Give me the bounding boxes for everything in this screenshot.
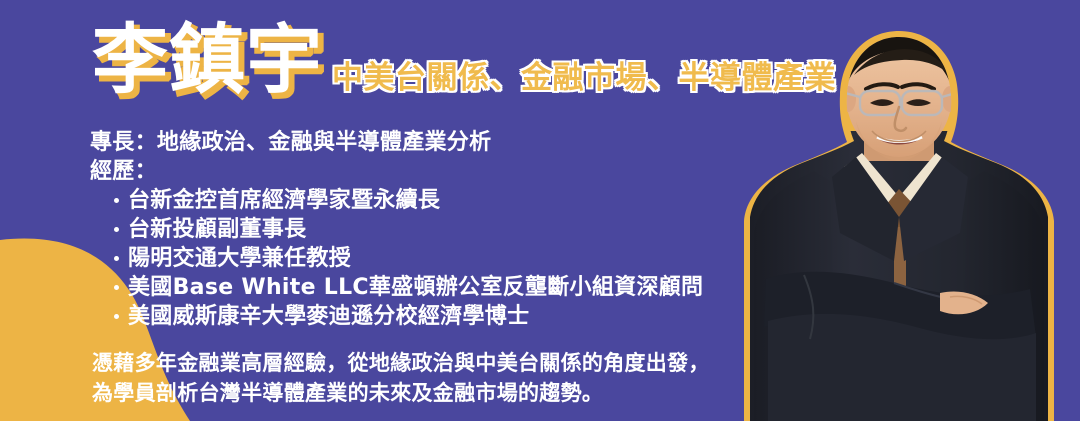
experience-label: 經歷： xyxy=(90,157,730,186)
bullet-dot-icon xyxy=(114,314,119,319)
speaker-profile-banner: 李鎮宇 中美台關係、金融市場、半導體產業 專長：地緣政治、金融與半導體產業分析 … xyxy=(0,0,1080,421)
list-item-label: 陽明交通大學兼任教授 xyxy=(128,246,351,271)
bullet-dot-icon xyxy=(114,285,119,290)
bullet-dot-icon xyxy=(114,227,119,232)
bullet-dot-icon xyxy=(114,256,119,261)
list-item-label: 台新投顧副董事長 xyxy=(128,217,306,242)
list-item: 台新金控首席經濟學家暨永續長 xyxy=(90,186,730,215)
speaker-portrait xyxy=(744,21,1054,421)
bullet-dot-icon xyxy=(114,198,119,203)
list-item-label: 台新金控首席經濟學家暨永續長 xyxy=(128,188,440,213)
list-item: 台新投顧副董事長 xyxy=(90,215,730,244)
summary-paragraph: 憑藉多年金融業高層經驗，從地緣政治與中美台關係的角度出發， 為學員剖析台灣半導體… xyxy=(92,348,752,408)
list-item-label: 美國Base White LLC華盛頓辦公室反壟斷小組資深顧問 xyxy=(128,275,703,300)
page-title: 李鎮宇 xyxy=(92,14,323,106)
summary-line-1: 憑藉多年金融業高層經驗，從地緣政治與中美台關係的角度出發， xyxy=(92,348,752,378)
list-item: 陽明交通大學兼任教授 xyxy=(90,244,730,273)
experience-list: 台新金控首席經濟學家暨永續長 台新投顧副董事長 陽明交通大學兼任教授 美國Bas… xyxy=(90,186,730,331)
specialty-line: 專長：地緣政治、金融與半導體產業分析 xyxy=(90,128,730,157)
list-item: 美國威斯康辛大學麥迪遜分校經濟學博士 xyxy=(90,302,730,331)
summary-line-2: 為學員剖析台灣半導體產業的未來及金融市場的趨勢。 xyxy=(92,378,752,408)
list-item-label: 美國威斯康辛大學麥迪遜分校經濟學博士 xyxy=(128,304,529,329)
profile-body: 專長：地緣政治、金融與半導體產業分析 經歷： 台新金控首席經濟學家暨永續長 台新… xyxy=(90,128,730,331)
list-item: 美國Base White LLC華盛頓辦公室反壟斷小組資深顧問 xyxy=(90,273,730,302)
